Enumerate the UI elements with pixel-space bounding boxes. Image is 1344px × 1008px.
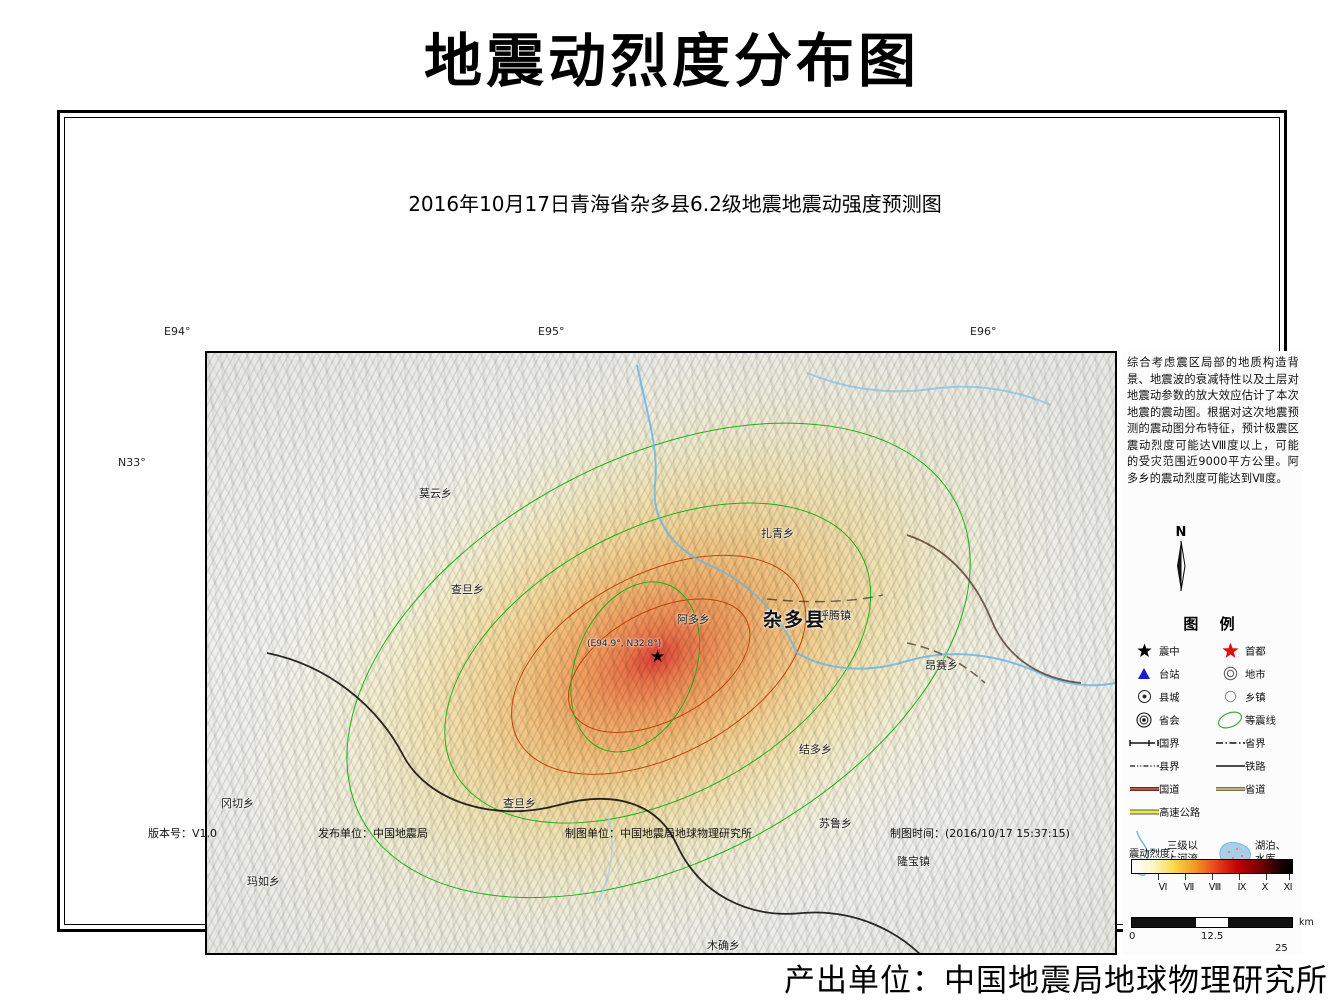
- legend-row: 台站 地市: [1129, 662, 1301, 685]
- footer-version: 版本号：V1.0: [148, 825, 217, 841]
- footer-publisher: 发布单位：中国地震局: [318, 825, 428, 841]
- legend-row: 县界 铁路: [1129, 754, 1301, 777]
- black-star-icon: [1129, 643, 1159, 658]
- legend-item-capital: 首都: [1215, 642, 1301, 659]
- legend-item-province-boundary: 省界: [1215, 735, 1301, 750]
- legend-item-county-boundary: 县界: [1129, 758, 1215, 773]
- scale-value-12-5: 12.5: [1201, 931, 1223, 942]
- legend-row: 县城 乡镇: [1129, 685, 1301, 708]
- legend-label: 台站: [1159, 666, 1180, 681]
- dot-circle-icon: [1129, 689, 1159, 704]
- intensity-tick-x: Ⅹ: [1262, 882, 1269, 893]
- intensity-description-text: 综合考虑震区局部的地质构造背景、地震波的衰减特性以及土层对地震动参数的放大效应估…: [1127, 355, 1299, 487]
- legend-row: 国道 省道: [1129, 777, 1301, 800]
- national-boundary-line-icon: [1129, 738, 1159, 748]
- north-arrow-label: N: [1161, 527, 1201, 539]
- legend-row: 高速公路: [1129, 800, 1301, 823]
- legend-label: 铁路: [1245, 758, 1266, 773]
- legend-row: 省会 等震线: [1129, 708, 1301, 731]
- lat-tick-n33: N33°: [118, 456, 146, 469]
- intensity-tick-marks: [1131, 874, 1293, 881]
- map-scale-bar: [1131, 917, 1293, 928]
- epicenter-star-icon: ★: [650, 649, 665, 666]
- legend-item-township: 乡镇: [1215, 689, 1301, 704]
- legend-label: 首都: [1245, 643, 1266, 658]
- intensity-tick-ix: Ⅸ: [1238, 882, 1247, 893]
- legend-item-province-capital: 省会: [1129, 712, 1215, 728]
- green-ellipse-icon: [1215, 711, 1245, 729]
- legend-item-county: 县城: [1129, 689, 1215, 704]
- legend-row: 震中 首都: [1129, 639, 1301, 662]
- province-road-line-icon: [1215, 784, 1245, 794]
- county-boundary-line-icon: [1129, 761, 1159, 771]
- scale-unit-label: km: [1299, 917, 1314, 928]
- legend-item-national-boundary: 国界: [1129, 735, 1215, 750]
- legend-label: 县界: [1159, 758, 1180, 773]
- bullseye-circle-icon: [1129, 712, 1159, 728]
- lon-tick-e95: E95°: [538, 325, 564, 338]
- legend-label: 国道: [1159, 781, 1180, 796]
- bottom-credit: 产出单位：中国地震局地球物理研究所: [0, 955, 1328, 1000]
- open-circle-icon: [1215, 689, 1245, 704]
- legend-label: 省道: [1245, 781, 1266, 796]
- legend-label: 震中: [1159, 643, 1180, 658]
- lon-tick-e96: E96°: [970, 325, 996, 338]
- blue-triangle-icon: [1129, 667, 1159, 680]
- map-side-panel: 综合考虑震区局部的地质构造背景、地震波的衰减特性以及土层对地震动参数的放大效应估…: [1123, 351, 1303, 955]
- legend-item-expressway: 高速公路: [1129, 804, 1301, 819]
- expressway-line-icon: [1129, 807, 1159, 817]
- legend-item-prefecture: 地市: [1215, 666, 1301, 681]
- map-subtitle: 2016年10月17日青海省杂多县6.2级地震地震动强度预测图: [60, 188, 1290, 217]
- scale-value-labels: 0 12.5 25: [1123, 931, 1303, 945]
- railway-line-icon: [1215, 761, 1245, 771]
- red-star-icon: [1215, 642, 1245, 659]
- legend-label: 地市: [1245, 666, 1266, 681]
- legend-row: 国界 省界: [1129, 731, 1301, 754]
- scale-value-0: 0: [1129, 931, 1135, 942]
- footer-time: 制图时间：(2016/10/17 15:37:15): [890, 825, 1070, 841]
- intensity-tick-xi: Ⅺ: [1284, 882, 1293, 893]
- map-poster-frame: 2016年10月17日青海省杂多县6.2级地震地震动强度预测图 E94° E95…: [57, 110, 1287, 932]
- legend-label: 省界: [1245, 735, 1266, 750]
- national-road-line-icon: [1129, 784, 1159, 794]
- legend-label: 省会: [1159, 712, 1180, 727]
- province-boundary-line-icon: [1215, 738, 1245, 748]
- intensity-tick-viii: Ⅷ: [1209, 882, 1222, 893]
- intensity-tick-labels: Ⅵ Ⅶ Ⅷ Ⅸ Ⅹ Ⅺ: [1131, 882, 1293, 896]
- legend-label: 等震线: [1245, 712, 1276, 727]
- footer-cartographer: 制图单位：中国地震局地球物理研究所: [565, 825, 752, 841]
- legend-label: 国界: [1159, 735, 1180, 750]
- legend-label: 县城: [1159, 689, 1180, 704]
- legend-item-province-road: 省道: [1215, 781, 1301, 796]
- intensity-tick-vi: Ⅵ: [1159, 882, 1168, 893]
- page-title: 地震动烈度分布图: [0, 14, 1344, 98]
- legend-label: 乡镇: [1245, 689, 1266, 704]
- legend-title: 图 例: [1123, 613, 1303, 634]
- north-arrow-icon: N: [1161, 527, 1201, 591]
- map-canvas[interactable]: ★ (E94.9°, N32.8°) 莫云乡 查旦乡 扎青乡 阿多乡 萨呼腾镇 …: [205, 351, 1117, 955]
- legend-item-station: 台站: [1129, 666, 1215, 681]
- double-circle-icon: [1215, 666, 1245, 681]
- intensity-tick-vii: Ⅶ: [1184, 882, 1195, 893]
- legend-label: 高速公路: [1159, 804, 1200, 819]
- map-footer: 版本号：V1.0 发布单位：中国地震局 制图单位：中国地震局地球物理研究所 制图…: [60, 825, 1290, 851]
- scale-value-25: 25: [1275, 943, 1288, 954]
- lon-tick-e94: E94°: [164, 325, 190, 338]
- legend-item-national-road: 国道: [1129, 781, 1215, 796]
- intensity-color-bar: [1131, 859, 1293, 874]
- legend-item-isoseismal: 等震线: [1215, 711, 1301, 729]
- legend-item-railway: 铁路: [1215, 758, 1301, 773]
- legend-item-epicenter: 震中: [1129, 643, 1215, 658]
